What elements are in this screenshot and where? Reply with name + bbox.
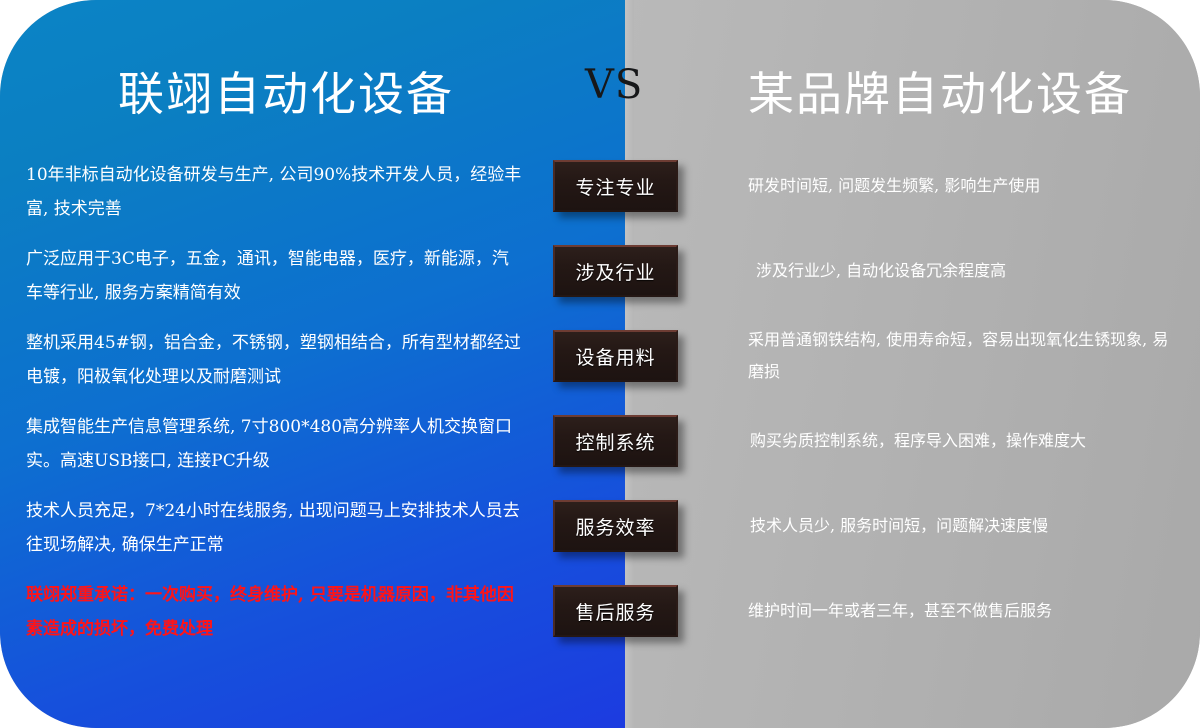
category-badge-3-label: 设备用料 [575, 343, 655, 370]
category-badge-1-label: 专注专业 [575, 173, 655, 200]
left-feature-text-5: 技术人员充足，7*24小时在线服务, 出现问题马上安排技术人员去往现场解决, 确… [26, 494, 524, 562]
left-feature-text-4: 集成智能生产信息管理系统, 7寸800*480高分辨率人机交换窗口实。高速USB… [26, 410, 524, 478]
left-feature-text-3: 整机采用45#钢，铝合金，不锈钢，塑钢相结合，所有型材都经过电镀，阳极氧化处理以… [26, 326, 524, 394]
right-column-title: 某品牌自动化设备 [748, 58, 1132, 124]
vs-label: VS [585, 62, 643, 108]
right-drawback-text-3: 采用普通钢铁结构, 使用寿命短，容易出现氧化生锈现象, 易磨损 [748, 324, 1178, 388]
comparison-poster: 联翊自动化设备 VS 某品牌自动化设备 10年非标自动化设备研发与生产, 公司9… [0, 0, 1200, 728]
left-feature-text-6-promise: 联翊郑重承诺：一次购买，终身维护, 只要是机器原因，非其他因素造成的损坏，免费处… [26, 578, 524, 646]
category-badge-5[interactable]: 服务效率 [553, 500, 678, 552]
right-drawback-text-2: 涉及行业少, 自动化设备冗余程度高 [756, 255, 1186, 287]
category-badge-4[interactable]: 控制系统 [553, 415, 678, 467]
right-drawback-text-4: 购买劣质控制系统，程序导入困难，操作难度大 [750, 425, 1180, 457]
category-badge-6[interactable]: 售后服务 [553, 585, 678, 637]
category-badge-6-label: 售后服务 [575, 598, 655, 625]
category-badge-2-label: 涉及行业 [575, 258, 655, 285]
right-drawback-text-6: 维护时间一年或者三年，甚至不做售后服务 [748, 595, 1178, 627]
category-badge-1[interactable]: 专注专业 [553, 160, 678, 212]
left-feature-text-1: 10年非标自动化设备研发与生产, 公司90%技术开发人员，经验丰富, 技术完善 [26, 158, 524, 226]
left-feature-text-2: 广泛应用于3C电子，五金，通讯，智能电器，医疗，新能源，汽车等行业, 服务方案精… [26, 242, 524, 310]
category-badge-5-label: 服务效率 [575, 513, 655, 540]
right-drawback-text-5: 技术人员少, 服务时间短，问题解决速度慢 [750, 510, 1180, 542]
category-badge-2[interactable]: 涉及行业 [553, 245, 678, 297]
category-badge-4-label: 控制系统 [575, 428, 655, 455]
left-column-title: 联翊自动化设备 [118, 58, 454, 124]
category-badge-3[interactable]: 设备用料 [553, 330, 678, 382]
right-drawback-text-1: 研发时间短, 问题发生频繁, 影响生产使用 [748, 170, 1178, 202]
